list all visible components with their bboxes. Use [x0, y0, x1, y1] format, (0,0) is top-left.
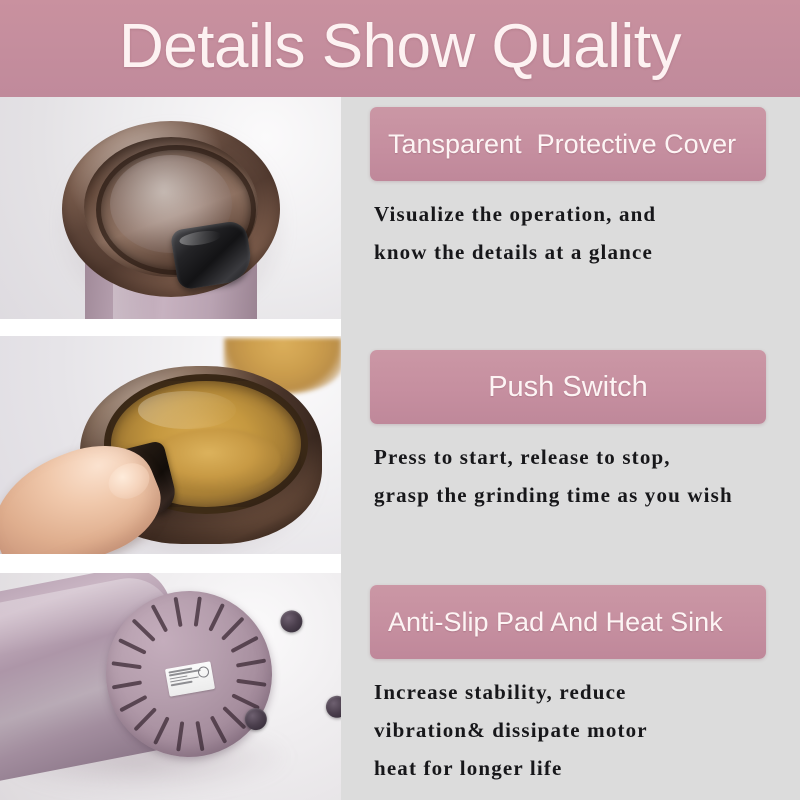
heat-sink-vent: [208, 603, 225, 632]
heat-sink-vent: [118, 638, 147, 655]
feature-banner: Push Switch: [370, 350, 766, 424]
feature-banner: Anti-Slip Pad And Heat Sink: [370, 585, 766, 659]
heat-sink-vent: [210, 715, 228, 743]
heat-sink-vent: [194, 596, 202, 626]
heat-sink-vent: [236, 658, 266, 667]
heat-sink-vent: [236, 679, 266, 687]
feature-description-line: know the details at a glance: [374, 233, 766, 271]
heat-sink-vent: [132, 618, 156, 642]
feature-description-line: Press to start, release to stop,: [374, 438, 766, 476]
heat-sink-vent: [222, 706, 246, 730]
feature-block-transparent-cover: Tansparent Protective Cover Visualize th…: [370, 107, 766, 271]
product-photo-transparent-cover: [0, 97, 341, 319]
heat-sink-vent: [173, 597, 182, 627]
product-detail-infographic: Details Show Quality: [0, 0, 800, 800]
heat-sink-vent: [119, 695, 147, 713]
heat-sink-vent: [112, 680, 142, 689]
feature-banner-title: Anti-Slip Pad And Heat Sink: [388, 609, 723, 636]
feature-block-push-switch: Push Switch Press to start, release to s…: [370, 350, 766, 514]
product-photo-base-heat-sink: [0, 573, 341, 800]
heat-sink-vent: [133, 707, 157, 731]
certification-mark-icon: [197, 666, 210, 679]
feature-description: Visualize the operation, and know the de…: [370, 195, 766, 271]
feature-banner: Tansparent Protective Cover: [370, 107, 766, 181]
heat-sink-vent: [221, 617, 245, 641]
feature-description-line: heat for longer life: [374, 749, 766, 787]
heat-sink-vent: [153, 716, 170, 745]
feature-description-line: grasp the grinding time as you wish: [374, 476, 766, 514]
feature-description-line: vibration& dissipate motor: [374, 711, 766, 749]
heat-sink-vent: [151, 604, 169, 632]
heat-sink-vent: [230, 636, 258, 654]
feature-block-anti-slip-heat-sink: Anti-Slip Pad And Heat Sink Increase sta…: [370, 585, 766, 787]
feature-description: Increase stability, reduce vibration& di…: [370, 673, 766, 787]
product-photo-push-switch: [0, 336, 341, 554]
feature-description-line: Increase stability, reduce: [374, 673, 766, 711]
feature-description: Press to start, release to stop, grasp t…: [370, 438, 766, 514]
heat-sink-vent: [195, 721, 204, 751]
feature-banner-title: Push Switch: [488, 373, 648, 402]
product-photo-column: [0, 97, 341, 800]
feature-banner-title: Tansparent Protective Cover: [388, 131, 736, 158]
feature-text-column: Tansparent Protective Cover Visualize th…: [370, 0, 770, 800]
heat-sink-vent: [111, 661, 141, 669]
heat-sink-vent: [176, 721, 184, 751]
feature-description-line: Visualize the operation, and: [374, 195, 766, 233]
